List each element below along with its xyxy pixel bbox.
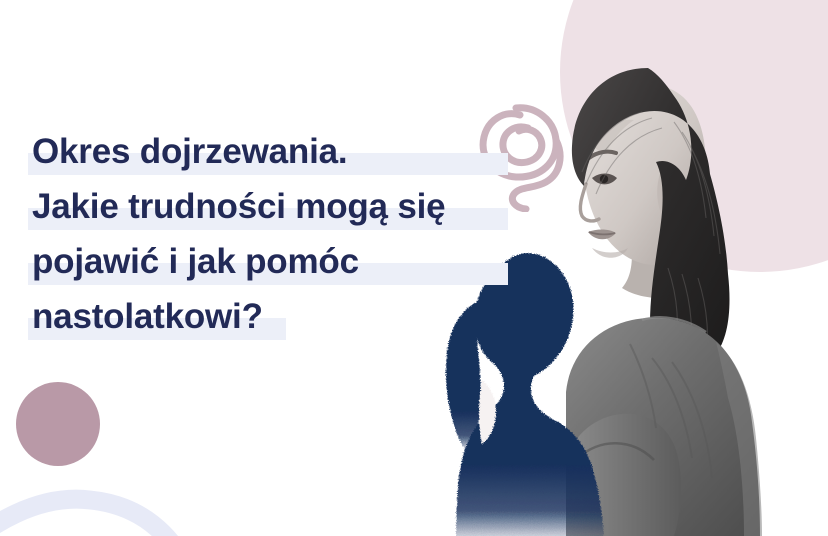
headline-line-2: Jakie trudności mogą się [32, 179, 502, 234]
woman-profile-photo [556, 62, 828, 536]
headline-line-3: pojawić i jak pomóc [32, 234, 502, 289]
lavender-swoosh-arc [0, 372, 260, 536]
headline: Okres dojrzewania. Jakie trudności mogą … [32, 124, 502, 344]
small-mauve-circle [16, 382, 100, 466]
article-header-banner: Okres dojrzewania. Jakie trudności mogą … [0, 0, 828, 536]
headline-line-1: Okres dojrzewania. [32, 124, 502, 179]
headline-line-4: nastolatkowi? [32, 289, 502, 344]
large-pink-circle [560, 0, 828, 272]
